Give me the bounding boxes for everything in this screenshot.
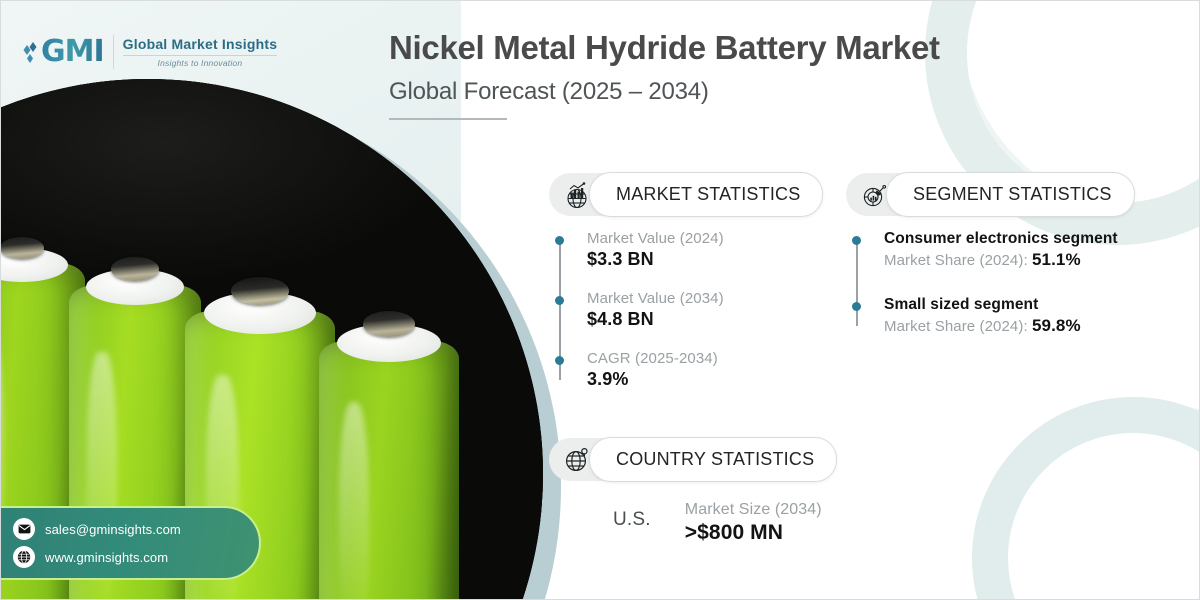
- logo-wordmark: Global Market Insights Insights to Innov…: [123, 36, 278, 68]
- contact-website-text: www.gminsights.com: [45, 550, 168, 565]
- battery-cell-terminal: [231, 277, 289, 305]
- country-statistics-panel: COUNTRY STATISTICS U.S. Market Size (203…: [549, 438, 879, 545]
- battery-cell-terminal: [1, 237, 44, 259]
- infographic-canvas: sales@gminsights.com www.gminsights.com: [0, 0, 1200, 600]
- country-statistics-header: COUNTRY STATISTICS: [549, 438, 837, 481]
- segment-share-label: Market Share (2024):: [884, 318, 1032, 335]
- list-item: Consumer electronics segment Market Shar…: [884, 230, 1166, 270]
- logo-mark: GMI: [23, 34, 104, 69]
- decor-ring-bottom-right-outer: [985, 405, 1200, 600]
- logo-tagline: Insights to Innovation: [123, 58, 278, 68]
- segment-name: Small sized segment: [884, 296, 1166, 314]
- stat-value: 3.9%: [587, 369, 829, 390]
- country-statistics-title: COUNTRY STATISTICS: [589, 437, 837, 482]
- segment-share-value: 51.1%: [1032, 250, 1081, 269]
- segment-share-label: Market Share (2024):: [884, 252, 1032, 269]
- list-item: Market Value (2034) $4.8 BN: [587, 290, 829, 330]
- segment-share: Market Share (2024): 59.8%: [884, 316, 1166, 336]
- stat-label: Market Value (2024): [587, 230, 829, 247]
- country-metric-label: Market Size (2034): [685, 501, 822, 519]
- market-statistics-list: Market Value (2024) $3.3 BN Market Value…: [549, 230, 829, 390]
- globe-icon: [13, 546, 35, 568]
- list-item: Small sized segment Market Share (2024):…: [884, 296, 1166, 336]
- logo-company-name: Global Market Insights: [123, 36, 278, 52]
- segment-statistics-title: SEGMENT STATISTICS: [886, 172, 1135, 217]
- page-subtitle: Global Forecast (2025 – 2034): [389, 78, 1179, 106]
- contact-website-row[interactable]: www.gminsights.com: [13, 546, 259, 568]
- list-item: Market Value (2024) $3.3 BN: [587, 230, 829, 270]
- market-statistics-panel: MARKET STATISTICS Market Value (2024) $3…: [549, 173, 829, 390]
- timeline-line: [856, 240, 858, 326]
- segment-statistics-panel: SEGMENT STATISTICS Consumer electronics …: [846, 173, 1166, 336]
- stat-value: $3.3 BN: [587, 249, 829, 270]
- segment-name: Consumer electronics segment: [884, 230, 1166, 248]
- logo-divider: [113, 35, 114, 69]
- segment-statistics-header: SEGMENT STATISTICS: [846, 173, 1135, 216]
- decor-ring-bottom-right-inner: [972, 397, 1200, 600]
- logo-rule: [123, 55, 278, 56]
- timeline-dot: [555, 236, 564, 245]
- envelope-icon: [13, 518, 35, 540]
- market-statistics-header: MARKET STATISTICS: [549, 173, 823, 216]
- segment-share: Market Share (2024): 51.1%: [884, 250, 1166, 270]
- stat-label: Market Value (2034): [587, 290, 829, 307]
- logo-initials: GMI: [41, 34, 104, 69]
- timeline-dot: [555, 356, 564, 365]
- timeline-dot: [852, 236, 861, 245]
- country-metric: Market Size (2034) >$800 MN: [685, 501, 822, 545]
- country-statistics-body: U.S. Market Size (2034) >$800 MN: [549, 501, 879, 545]
- contact-card: sales@gminsights.com www.gminsights.com: [1, 506, 261, 580]
- brand-logo[interactable]: GMI Global Market Insights Insights to I…: [23, 34, 277, 69]
- stat-label: CAGR (2025-2034): [587, 350, 829, 367]
- stat-value: $4.8 BN: [587, 309, 829, 330]
- contact-email-text: sales@gminsights.com: [45, 522, 181, 537]
- segment-statistics-list: Consumer electronics segment Market Shar…: [846, 230, 1166, 336]
- heading-underline: [389, 118, 507, 120]
- battery-cell: [319, 341, 459, 600]
- diamond-cluster-icon: [23, 39, 39, 65]
- battery-cell-terminal: [111, 257, 159, 281]
- list-item: CAGR (2025-2034) 3.9%: [587, 350, 829, 390]
- battery-cell-highlight: [339, 402, 370, 600]
- page-heading: Nickel Metal Hydride Battery Market Glob…: [389, 29, 1179, 120]
- battery-cell-terminal: [363, 311, 415, 337]
- contact-email-row[interactable]: sales@gminsights.com: [13, 518, 259, 540]
- timeline-dot: [852, 302, 861, 311]
- market-statistics-title: MARKET STATISTICS: [589, 172, 823, 217]
- segment-share-value: 59.8%: [1032, 316, 1081, 335]
- page-title: Nickel Metal Hydride Battery Market: [389, 29, 1179, 68]
- country-metric-value: >$800 MN: [685, 521, 822, 545]
- timeline-dot: [555, 296, 564, 305]
- country-name: U.S.: [613, 501, 651, 531]
